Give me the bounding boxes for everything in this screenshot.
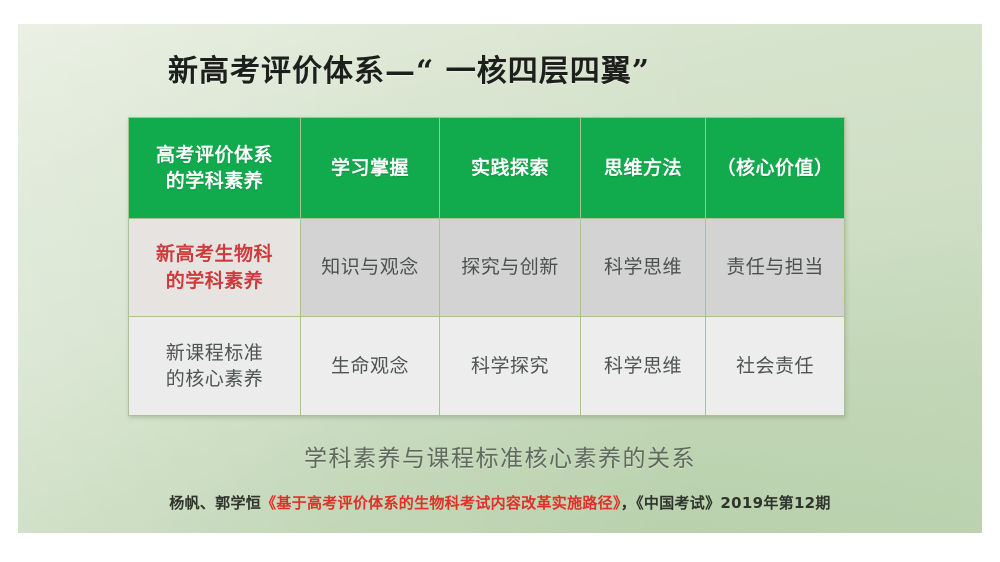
table-header-cell-thinking-method: 思维方法	[581, 118, 706, 219]
citation-article-title: 《基于高考评价体系的生物科考试内容改革实施路径》	[261, 494, 621, 512]
row-label-biology-literacy: 新高考生物科 的学科素养	[129, 219, 301, 317]
table-header-cell-practice-exploration: 实践探索	[440, 118, 581, 219]
cell-life-concept: 生命观念	[301, 317, 440, 416]
presentation-slide: 新高考评价体系—“ 一核四层四翼” 高考评价体系 的学科素养 学习掌握 实践探索…	[18, 24, 982, 533]
table-caption: 学科素养与课程标准核心素养的关系	[18, 439, 982, 473]
header-label-line2: 的学科素养	[129, 168, 300, 194]
citation-journal: 《中国考试》2019年第12期	[636, 494, 831, 512]
row-label-curriculum-core-literacy: 新课程标准 的核心素养	[129, 317, 301, 416]
cell-responsibility-commitment: 责任与担当	[706, 219, 845, 317]
table-header-cell-subject-literacy: 高考评价体系 的学科素养	[129, 118, 301, 219]
cell-social-responsibility: 社会责任	[706, 317, 845, 416]
citation-separator: ，	[621, 494, 636, 512]
row-label-line2: 的核心素养	[129, 366, 300, 392]
table-row: 新高考生物科 的学科素养 知识与观念 探究与创新 科学思维 责任与担当	[129, 219, 845, 317]
cell-inquiry-innovation: 探究与创新	[440, 219, 581, 317]
screenshot-root: 新高考评价体系—“ 一核四层四翼” 高考评价体系 的学科素养 学习掌握 实践探索…	[0, 0, 1000, 562]
cell-scientific-thinking: 科学思维	[581, 317, 706, 416]
table-header-cell-learning-mastery: 学习掌握	[301, 118, 440, 219]
row-label-line2: 的学科素养	[129, 268, 300, 294]
cell-scientific-thinking: 科学思维	[581, 219, 706, 317]
header-label-line1: 高考评价体系	[129, 142, 300, 168]
citation-line: 杨帆、郭学恒《基于高考评价体系的生物科考试内容改革实施路径》，《中国考试》201…	[18, 492, 982, 513]
table-row: 新课程标准 的核心素养 生命观念 科学探究 科学思维 社会责任	[129, 317, 845, 416]
cell-knowledge-concept: 知识与观念	[301, 219, 440, 317]
comparison-table: 高考评价体系 的学科素养 学习掌握 实践探索 思维方法 （核心价值） 新高考生物…	[128, 117, 845, 416]
row-label-line1: 新课程标准	[129, 340, 300, 366]
table-header-cell-core-values: （核心价值）	[706, 118, 845, 219]
row-label-line1: 新高考生物科	[129, 241, 300, 267]
cell-scientific-inquiry: 科学探究	[440, 317, 581, 416]
citation-authors: 杨帆、郭学恒	[169, 494, 261, 512]
page-title: 新高考评价体系—“ 一核四层四翼”	[168, 54, 848, 90]
table-header-row: 高考评价体系 的学科素养 学习掌握 实践探索 思维方法 （核心价值）	[129, 118, 845, 219]
